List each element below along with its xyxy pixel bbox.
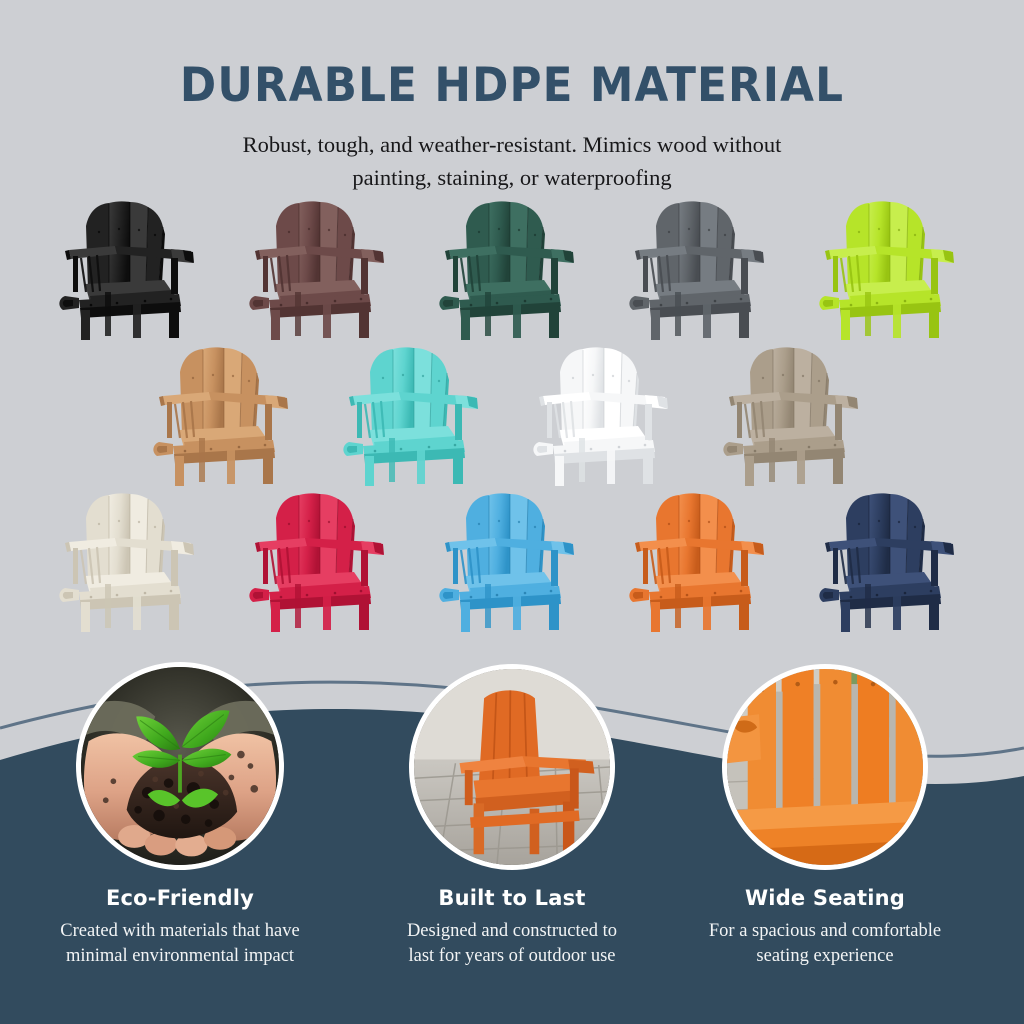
wide-seating-photo	[722, 664, 928, 870]
adirondack-chair-dark-green-icon	[425, 192, 601, 344]
chair-swatch-cedar-tan[interactable]	[139, 338, 315, 490]
feature-built-to-last: Built to Last Designed and constructed t…	[352, 664, 672, 968]
chair-swatch-dark-green[interactable]	[425, 192, 601, 344]
adirondack-chair-lime-green-icon	[805, 192, 981, 344]
chair-swatch-lime-green[interactable]	[805, 192, 981, 344]
feature-desc-line-2: last for years of outdoor use	[352, 944, 672, 968]
feature-title: Built to Last	[352, 886, 672, 910]
chair-row-3	[2, 484, 1024, 636]
feature-desc-line-1: Designed and constructed to	[352, 919, 672, 943]
chair-swatch-white[interactable]	[519, 338, 695, 490]
chair-swatch-brown[interactable]	[235, 192, 411, 344]
chair-swatch-black[interactable]	[45, 192, 221, 344]
adirondack-chair-ivory-icon	[45, 484, 221, 636]
page-subtitle: Robust, tough, and weather-resistant. Mi…	[0, 129, 1024, 194]
adirondack-chair-gray-icon	[615, 192, 791, 344]
feature-desc-line-2: seating experience	[660, 944, 990, 968]
orange-adirondack-chair-on-patio-icon	[414, 669, 610, 865]
chair-swatch-light-blue[interactable]	[425, 484, 601, 636]
adirondack-chair-white-icon	[519, 338, 695, 490]
feature-description: For a spacious and comfortable seating e…	[660, 919, 990, 968]
adirondack-chair-weathered-wood-icon	[709, 338, 885, 490]
chair-swatch-orange[interactable]	[615, 484, 791, 636]
chair-row-2	[0, 338, 1024, 490]
orange-chair-wide-seat-closeup-icon	[727, 669, 923, 865]
adirondack-chair-cedar-tan-icon	[139, 338, 315, 490]
adirondack-chair-orange-icon	[615, 484, 791, 636]
hands-holding-soil-seedling-icon	[81, 667, 279, 865]
subtitle-line-1: Robust, tough, and weather-resistant. Mi…	[0, 129, 1024, 162]
adirondack-chair-light-blue-icon	[425, 484, 601, 636]
feature-description: Designed and constructed to last for yea…	[352, 919, 672, 968]
chair-swatch-red[interactable]	[235, 484, 411, 636]
feature-row: Eco-Friendly Created with materials that…	[0, 624, 1024, 1024]
page-title: DURABLE HDPE MATERIAL	[36, 58, 988, 113]
feature-desc-line-2: minimal environmental impact	[15, 944, 345, 968]
header-block: DURABLE HDPE MATERIAL Robust, tough, and…	[0, 0, 1024, 194]
chair-swatch-navy-blue[interactable]	[805, 484, 981, 636]
adirondack-chair-red-icon	[235, 484, 411, 636]
feature-description: Created with materials that have minimal…	[15, 919, 345, 968]
feature-wide-seating: Wide Seating For a spacious and comforta…	[665, 664, 985, 968]
eco-friendly-photo	[76, 662, 284, 870]
infographic-canvas: DURABLE HDPE MATERIAL Robust, tough, and…	[0, 0, 1024, 1024]
adirondack-chair-black-icon	[45, 192, 221, 344]
feature-title: Wide Seating	[665, 886, 985, 910]
chair-swatch-weathered-wood[interactable]	[709, 338, 885, 490]
built-to-last-photo	[409, 664, 615, 870]
feature-eco-friendly: Eco-Friendly Created with materials that…	[20, 662, 340, 968]
adirondack-chair-turquoise-icon	[329, 338, 505, 490]
chair-row-1	[2, 192, 1024, 344]
adirondack-chair-brown-icon	[235, 192, 411, 344]
subtitle-line-2: painting, staining, or waterproofing	[0, 162, 1024, 195]
feature-title: Eco-Friendly	[20, 886, 340, 910]
chair-color-grid	[0, 192, 1024, 636]
chair-swatch-ivory[interactable]	[45, 484, 221, 636]
adirondack-chair-navy-blue-icon	[805, 484, 981, 636]
feature-desc-line-1: Created with materials that have	[15, 919, 345, 943]
chair-swatch-gray[interactable]	[615, 192, 791, 344]
feature-desc-line-1: For a spacious and comfortable	[660, 919, 990, 943]
chair-swatch-turquoise[interactable]	[329, 338, 505, 490]
